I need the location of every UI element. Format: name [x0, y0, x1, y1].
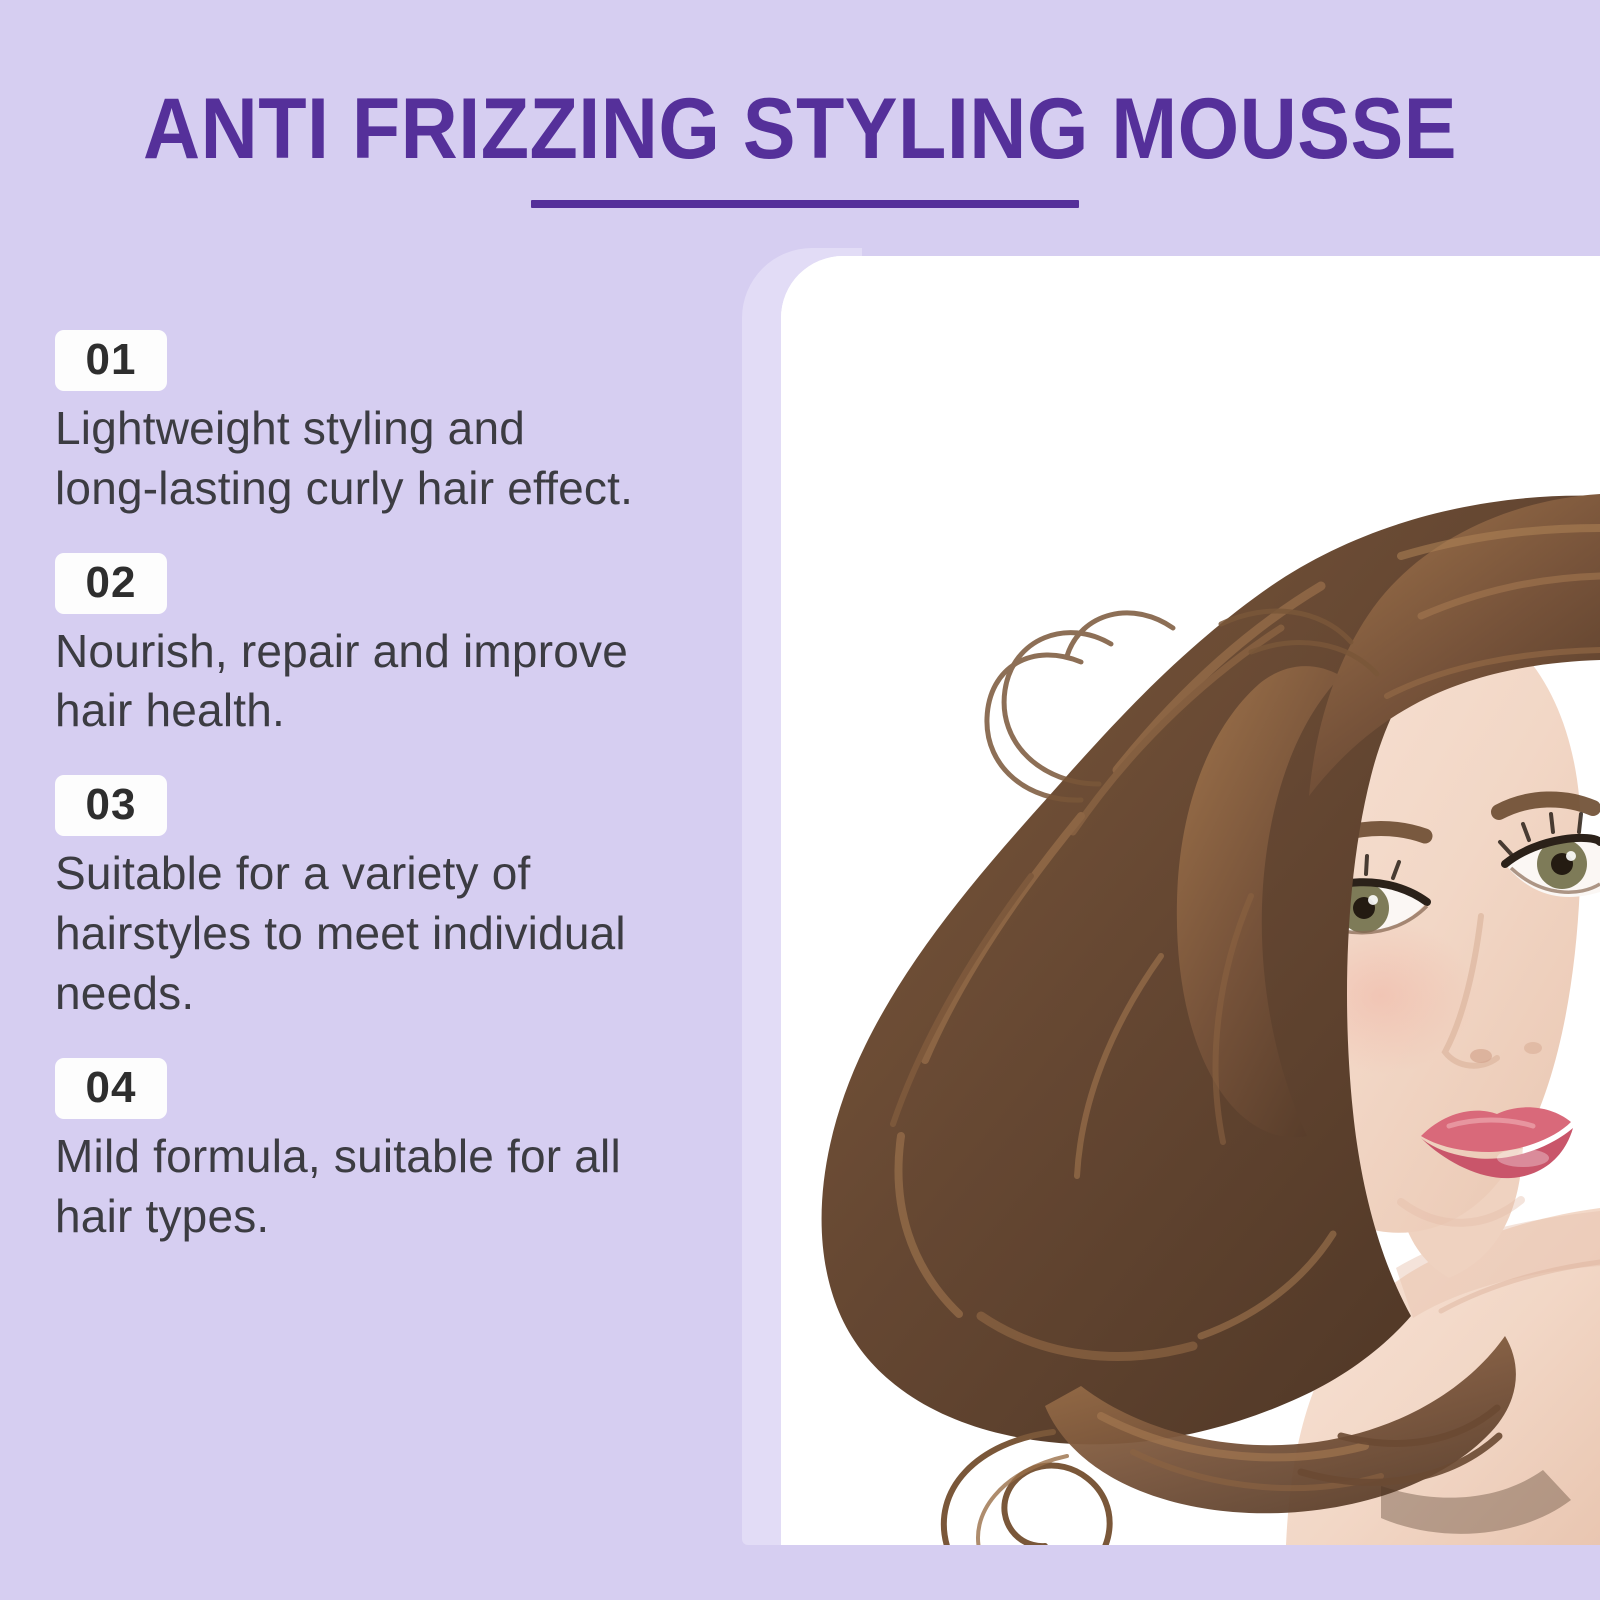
feature-description: Suitable for a variety of hairstyles to … — [55, 844, 705, 1023]
feature-item: 04 Mild formula, suitable for all hair t… — [55, 1058, 705, 1247]
feature-number-badge: 01 — [55, 330, 167, 391]
feature-description: Nourish, repair and improve hair health. — [55, 622, 705, 742]
feature-item: 01 Lightweight styling and long-lasting … — [55, 330, 705, 519]
product-photo-panel — [781, 256, 1600, 1545]
title-underline — [531, 200, 1079, 208]
feature-number-badge: 02 — [55, 553, 167, 614]
feature-item: 02 Nourish, repair and improve hair heal… — [55, 553, 705, 742]
model-photo — [781, 256, 1600, 1545]
feature-number-badge: 04 — [55, 1058, 167, 1119]
feature-description: Mild formula, suitable for all hair type… — [55, 1127, 705, 1247]
page-title: ANTI FRIZZING STYLING MOUSSE — [64, 86, 1536, 172]
feature-list: 01 Lightweight styling and long-lasting … — [55, 330, 705, 1280]
feature-number-badge: 03 — [55, 775, 167, 836]
feature-item: 03 Suitable for a variety of hairstyles … — [55, 775, 705, 1023]
product-feature-poster: ANTI FRIZZING STYLING MOUSSE 01 Lightwei… — [0, 0, 1600, 1600]
feature-description: Lightweight styling and long-lasting cur… — [55, 399, 705, 519]
page-title-block: ANTI FRIZZING STYLING MOUSSE — [0, 86, 1600, 172]
